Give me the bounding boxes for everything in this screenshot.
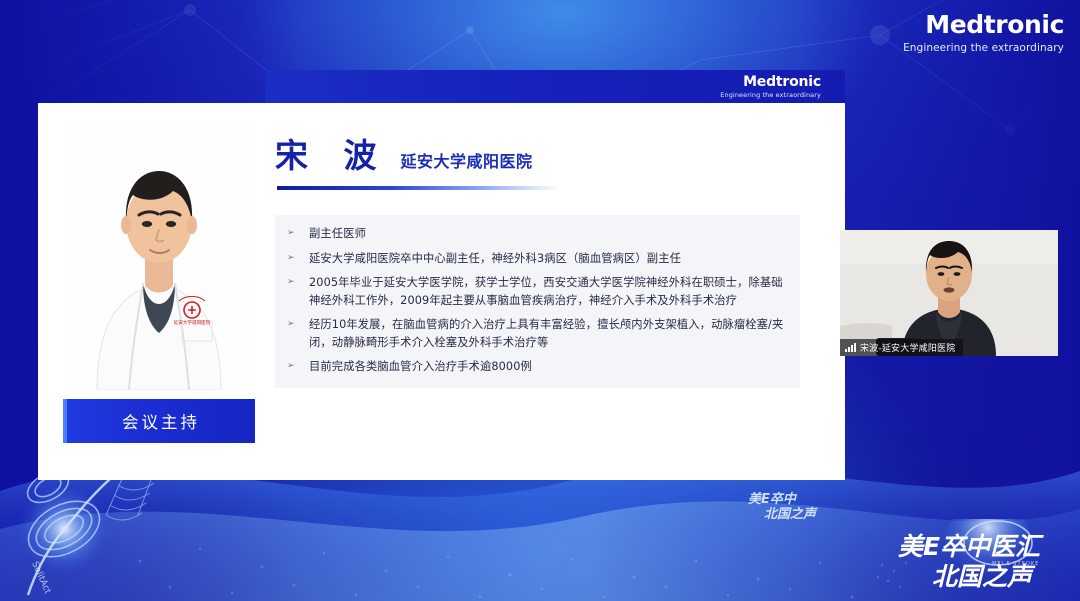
bullet-arrow-icon: ➢ [283, 274, 309, 291]
speaker-name-row: 宋 波 延安大学咸阳医院 [275, 139, 533, 172]
bullet-arrow-icon: ➢ [283, 250, 309, 267]
bio-list-item: ➢ 副主任医师 [283, 225, 792, 243]
watermark-line2: 北国之声 [764, 506, 818, 522]
speaker-portrait-illustration: 延安大学咸阳医院 [63, 125, 255, 390]
bio-text: 2005年毕业于延安大学医学院，获学士学位，西安交通大学医学院神经外科在职硕士，… [309, 274, 792, 309]
participant-name-label: 宋波-延安大学咸阳医院 [840, 339, 963, 356]
bio-list-item: ➢ 延安大学咸阳医院卒中中心副主任，神经外科3病区（脑血管病区）副主任 [283, 250, 792, 268]
speaker-organization: 延安大学咸阳医院 [401, 148, 533, 172]
bullet-arrow-icon: ➢ [283, 358, 309, 375]
event-logo-sub: MEI E STROKE [992, 561, 1039, 567]
speaker-bio-panel: ➢ 副主任医师 ➢ 延安大学咸阳医院卒中中心副主任，神经外科3病区（脑血管病区）… [275, 215, 800, 388]
event-watermark-small: 美E卒中 北国之声 [742, 487, 846, 523]
bio-text: 目前完成各类脑血管介入治疗手术逾8000例 [309, 358, 792, 376]
webinar-screen: SolitAct Medtronic Engineering the extra… [0, 0, 1080, 601]
speaker-photo-canvas: 延安大学咸阳医院 [63, 125, 255, 390]
signal-bars-icon [845, 343, 856, 352]
participant-name-text: 宋波-延安大学咸阳医院 [860, 341, 955, 354]
medtronic-wordmark: Medtronic [903, 12, 1064, 37]
bullet-arrow-icon: ➢ [283, 225, 309, 242]
name-underline-accent [277, 186, 560, 190]
slide-medtronic-wordmark: Medtronic [743, 74, 821, 90]
bullet-arrow-icon: ➢ [283, 316, 309, 333]
medtronic-tagline: Engineering the extraordinary [903, 43, 1064, 54]
event-logo-line1: 美E卒中医汇 [898, 532, 1044, 561]
speaker-name: 宋 波 [275, 139, 389, 172]
speaker-photo: 延安大学咸阳医院 [63, 125, 255, 390]
event-logo-bottom-right: 美E卒中医汇 北国之声 MEI E STROKE [870, 519, 1076, 599]
slide-brand-header: Medtronic Engineering the extraordinary [265, 70, 845, 103]
slide-medtronic-tagline: Engineering the extraordinary [720, 91, 821, 99]
role-badge: 会议主持 [63, 399, 255, 443]
participant-webcam-feed [840, 230, 1058, 356]
slide-content-area: 延安大学咸阳医院 会议主持 宋 波 延安大学咸阳医院 ➢ 副主任医师 [38, 103, 845, 480]
bio-list-item: ➢ 经历10年发展，在脑血管病的介入治疗上具有丰富经验，擅长颅内外支架植入，动脉… [283, 316, 792, 351]
watermark-line1: 美E卒中 [748, 491, 798, 507]
bio-text: 经历10年发展，在脑血管病的介入治疗上具有丰富经验，擅长颅内外支架植入，动脉瘤栓… [309, 316, 792, 351]
bio-list-item: ➢ 2005年毕业于延安大学医学院，获学士学位，西安交通大学医学院神经外科在职硕… [283, 274, 792, 309]
medtronic-brand-corner: Medtronic Engineering the extraordinary [903, 12, 1064, 54]
bio-text: 延安大学咸阳医院卒中中心副主任，神经外科3病区（脑血管病区）副主任 [309, 250, 792, 268]
dna-device-artwork-decoration: SolitAct [2, 471, 192, 601]
svg-text:延安大学咸阳医院: 延安大学咸阳医院 [174, 319, 211, 326]
bio-list-item: ➢ 目前完成各类脑血管介入治疗手术逾8000例 [283, 358, 792, 376]
presentation-slide: Medtronic Engineering the extraordinary [38, 70, 845, 480]
bio-text: 副主任医师 [309, 225, 792, 243]
participant-video-tile[interactable]: 宋波-延安大学咸阳医院 [840, 230, 1058, 356]
